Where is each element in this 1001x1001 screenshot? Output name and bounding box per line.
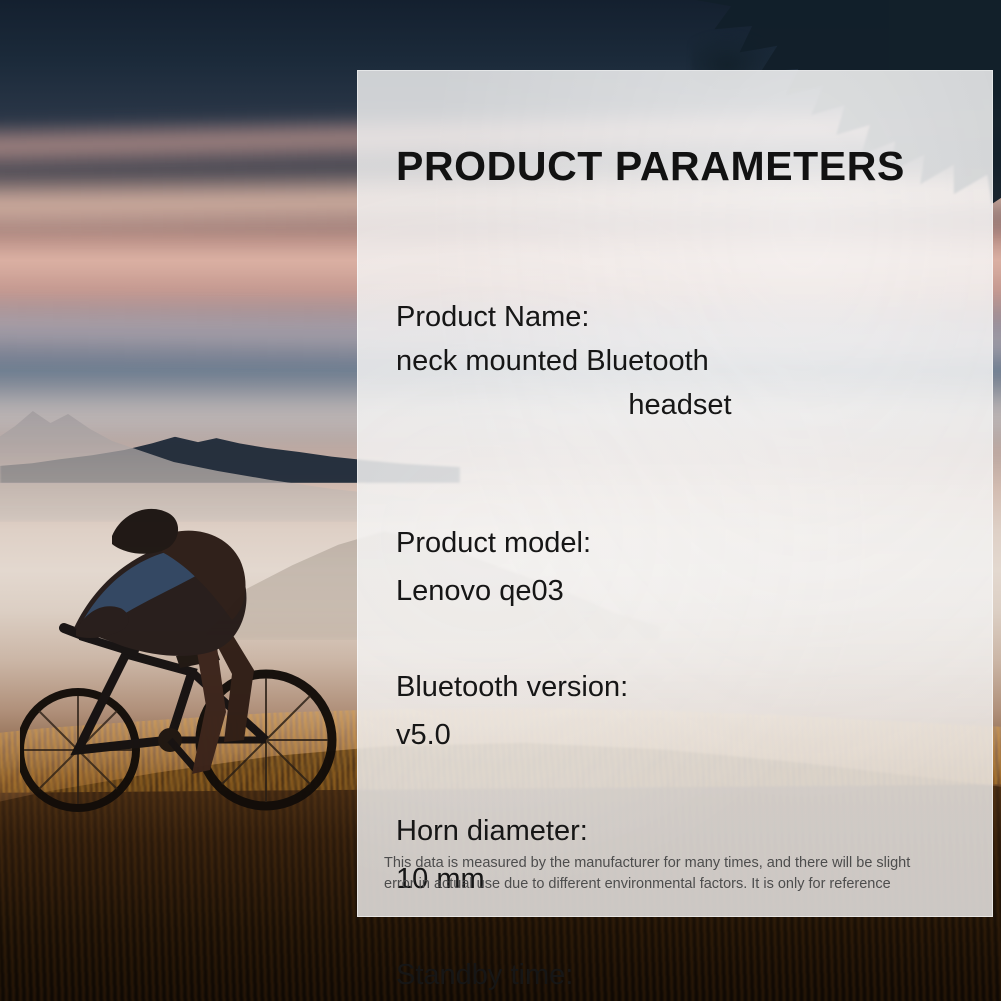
spec-label: Horn diameter:: [396, 815, 588, 847]
spec-label: Standby time:: [396, 959, 573, 991]
cyclist-silhouette: [20, 440, 360, 840]
spec-row: Standby time: About 120h: [396, 903, 964, 1001]
spec-row: Product Name: neck mounted Bluetooth hea…: [396, 251, 964, 471]
spec-value: Lenovo qe03: [396, 575, 564, 607]
product-parameters-image: PRODUCT PARAMETERS Product Name: neck mo…: [0, 0, 1001, 1001]
disclaimer-line-1: This data is measured by the manufacture…: [384, 853, 958, 874]
spec-row: Bluetooth version: v5.0: [396, 615, 964, 759]
spec-value-continuation: headset: [396, 383, 964, 427]
spec-value: neck mounted Bluetooth: [396, 345, 709, 377]
page-title: PRODUCT PARAMETERS: [396, 143, 905, 190]
disclaimer: This data is measured by the manufacture…: [384, 853, 958, 895]
spec-value: v5.0: [396, 719, 451, 751]
spec-label: Product model:: [396, 527, 591, 559]
spec-label: Bluetooth version:: [396, 671, 628, 703]
disclaimer-line-2: error in actual use due to different env…: [384, 874, 958, 895]
product-parameters-panel: PRODUCT PARAMETERS Product Name: neck mo…: [357, 70, 993, 917]
spec-row: Product model: Lenovo qe03: [396, 471, 964, 615]
spec-label: Product Name:: [396, 301, 589, 333]
